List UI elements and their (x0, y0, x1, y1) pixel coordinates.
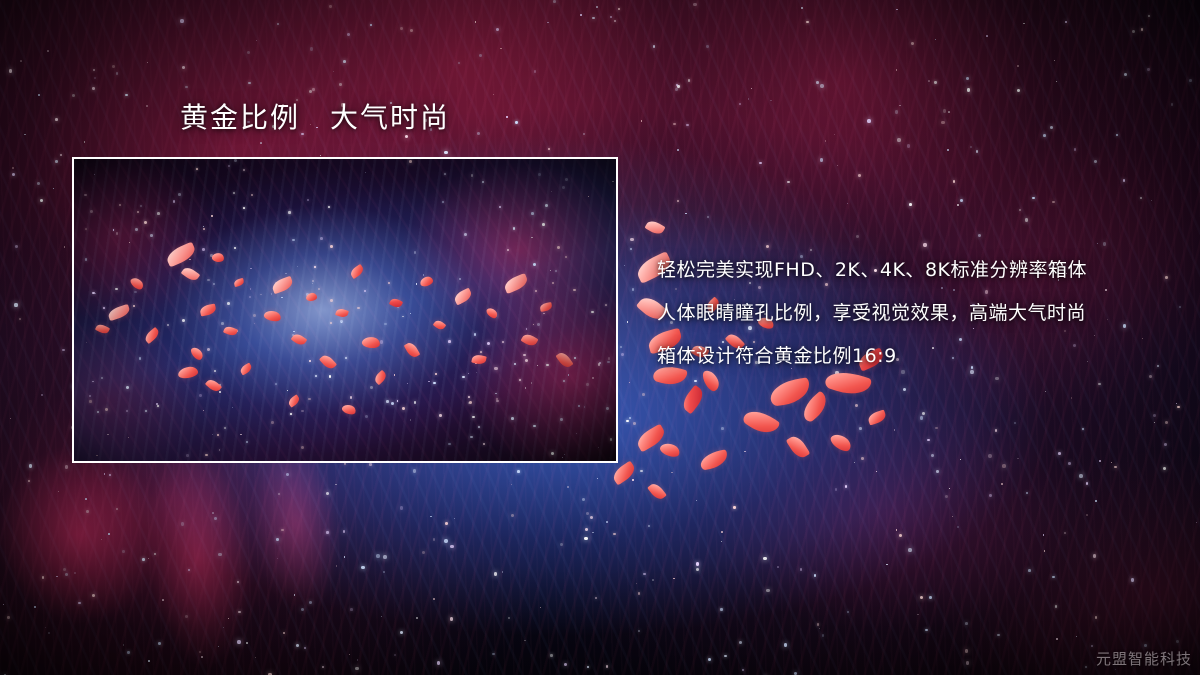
feature-description: 轻松完美实现FHD、2K、4K、8K标准分辨率箱体 人体眼睛瞳孔比例，享受视觉效… (657, 249, 1177, 378)
presentation-slide: 黄金比例 大气时尚 轻松完美实现FHD、2K、4K、8K标准分辨率箱体 人体眼睛… (0, 0, 1200, 675)
feature-line-2: 人体眼睛瞳孔比例，享受视觉效果，高端大气时尚 (657, 292, 1177, 335)
page-title: 黄金比例 大气时尚 (180, 102, 450, 134)
company-watermark: 元盟智能科技 (1096, 648, 1192, 669)
feature-line-1: 轻松完美实现FHD、2K、4K、8K标准分辨率箱体 (657, 249, 1177, 292)
photo-vignette (74, 159, 616, 461)
framed-photo (72, 157, 618, 463)
feature-line-3: 箱体设计符合黄金比例16:9 (657, 335, 1177, 378)
